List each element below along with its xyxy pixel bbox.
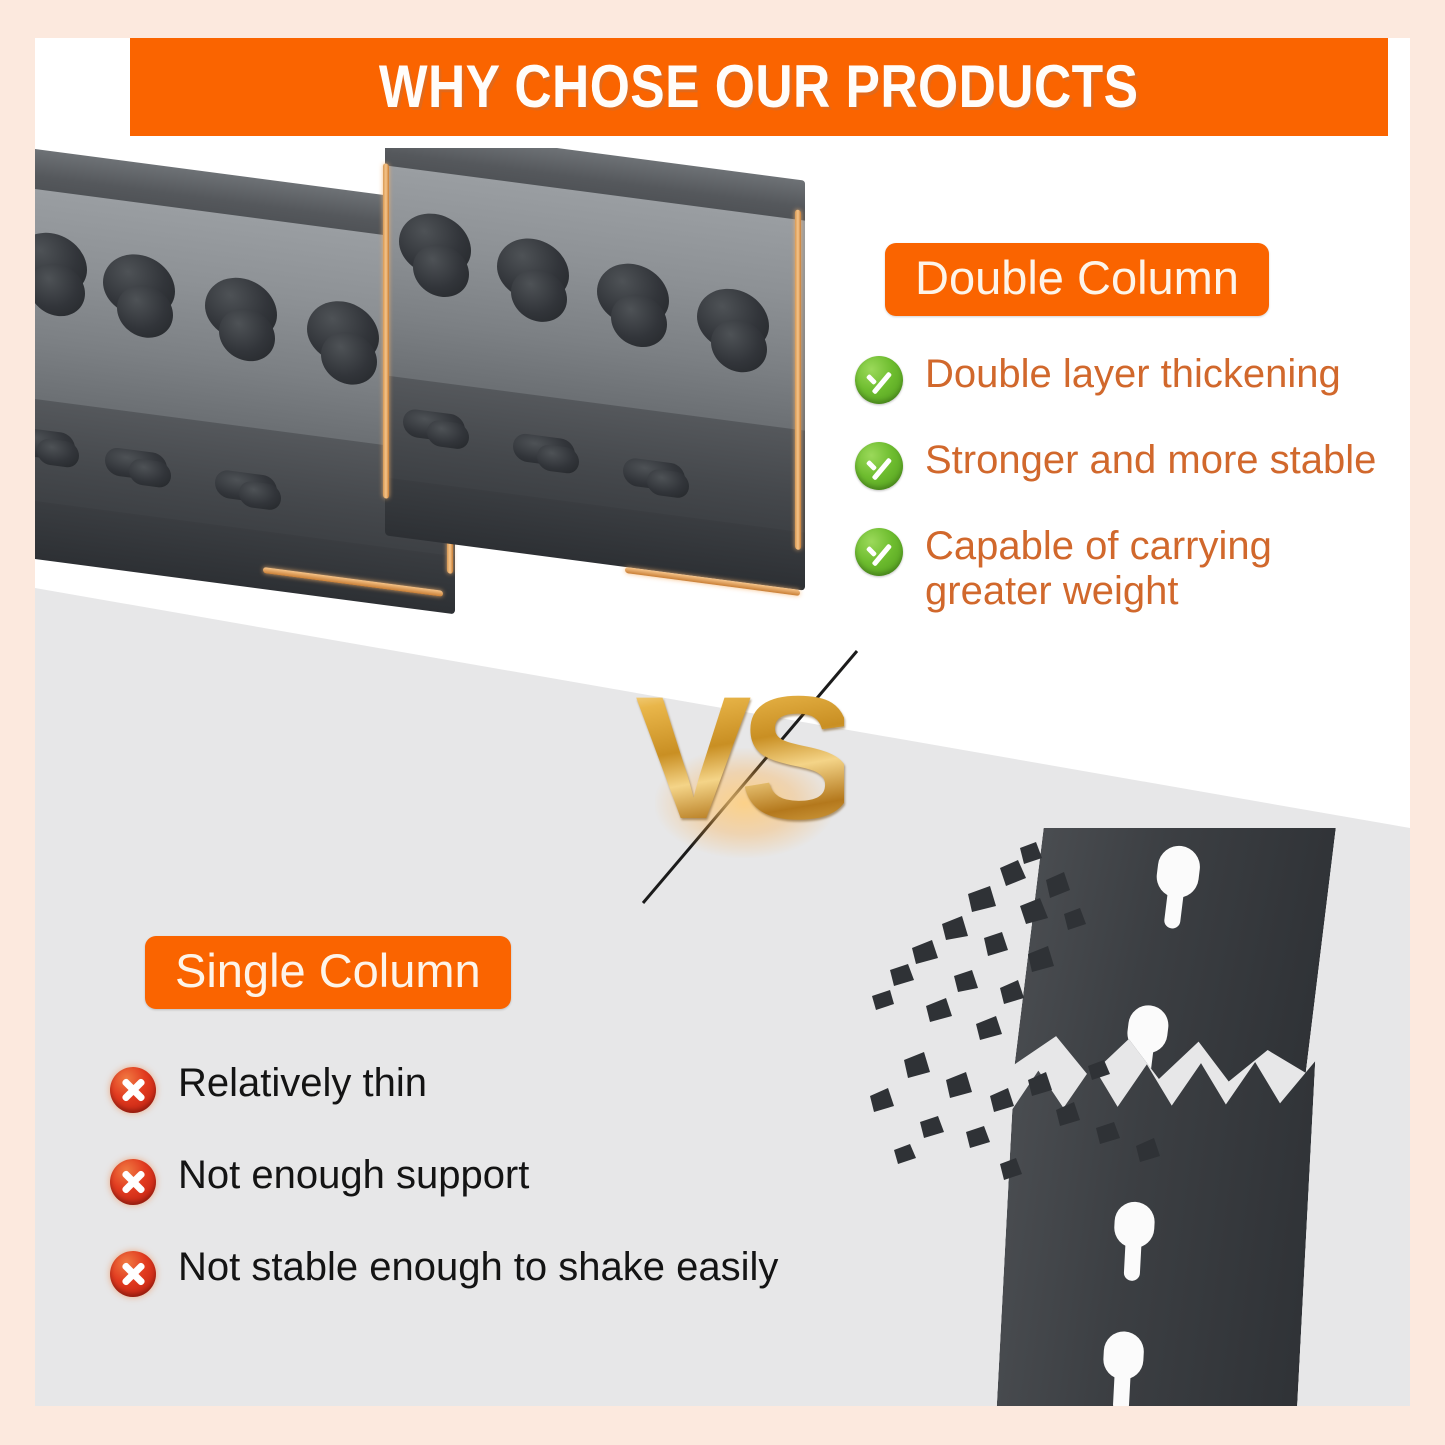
- copper-edge-highlight: [383, 163, 389, 499]
- small-slot: [35, 426, 75, 462]
- check-circle-icon: [855, 528, 903, 576]
- list-item: Not stable enough to shake easily: [110, 1245, 910, 1297]
- keyhole-slot: [35, 228, 87, 299]
- x-circle-icon: [110, 1159, 156, 1205]
- list-item: Capable of carrying greater weight: [855, 524, 1410, 614]
- cons-item-label: Not enough support: [178, 1153, 529, 1198]
- pros-item-label: Stronger and more stable: [925, 438, 1376, 483]
- copper-edge-highlight: [795, 209, 801, 550]
- keyhole-slot: [103, 250, 175, 321]
- x-circle-icon: [110, 1251, 156, 1297]
- keyhole-slot: [697, 284, 769, 355]
- pros-item-label: Capable of carrying greater weight: [925, 524, 1325, 614]
- steel-post-front: [385, 148, 805, 601]
- keyhole-slot: [307, 297, 379, 368]
- double-column-panel: Double Column Double layer thickening St…: [855, 243, 1410, 647]
- infographic-page: VS Double Column Double layer thickening…: [0, 0, 1445, 1445]
- small-slot: [215, 469, 277, 505]
- check-circle-icon: [855, 356, 903, 404]
- x-circle-icon: [110, 1067, 156, 1113]
- single-column-badge-label: Single Column: [175, 944, 481, 997]
- small-slot: [105, 446, 167, 482]
- list-item: Stronger and more stable: [855, 438, 1410, 490]
- cons-item-label: Relatively thin: [178, 1061, 427, 1106]
- small-slot: [623, 457, 685, 493]
- content-area: VS Double Column Double layer thickening…: [35, 38, 1410, 1406]
- list-item: Relatively thin: [110, 1061, 910, 1113]
- double-column-badge: Double Column: [885, 243, 1269, 316]
- small-slot: [513, 432, 575, 468]
- page-title: WHY CHOSE OUR PRODUCTS: [379, 57, 1139, 117]
- vs-label: VS: [635, 671, 844, 846]
- single-column-panel: Single Column Relatively thin Not enough…: [110, 936, 910, 1337]
- list-item: Double layer thickening: [855, 352, 1410, 404]
- metal-debris-shards: [850, 828, 1410, 1406]
- double-column-badge-label: Double Column: [915, 251, 1239, 304]
- check-circle-icon: [855, 442, 903, 490]
- small-slot: [403, 408, 465, 444]
- keyhole-slot: [497, 234, 569, 305]
- keyhole-slot: [399, 209, 471, 280]
- keyhole-slot: [205, 273, 277, 344]
- versus-badge: VS: [595, 653, 855, 903]
- double-column-product-photo: [35, 148, 825, 618]
- keyhole-slot: [597, 259, 669, 330]
- broken-column-product-photo: [850, 828, 1410, 1406]
- pros-list: Double layer thickening Stronger and mor…: [855, 352, 1410, 614]
- single-column-badge: Single Column: [145, 936, 511, 1009]
- list-item: Not enough support: [110, 1153, 910, 1205]
- cons-list: Relatively thin Not enough support Not s…: [110, 1061, 910, 1297]
- cons-item-label: Not stable enough to shake easily: [178, 1245, 778, 1290]
- pros-item-label: Double layer thickening: [925, 352, 1341, 397]
- title-banner: WHY CHOSE OUR PRODUCTS: [130, 38, 1388, 136]
